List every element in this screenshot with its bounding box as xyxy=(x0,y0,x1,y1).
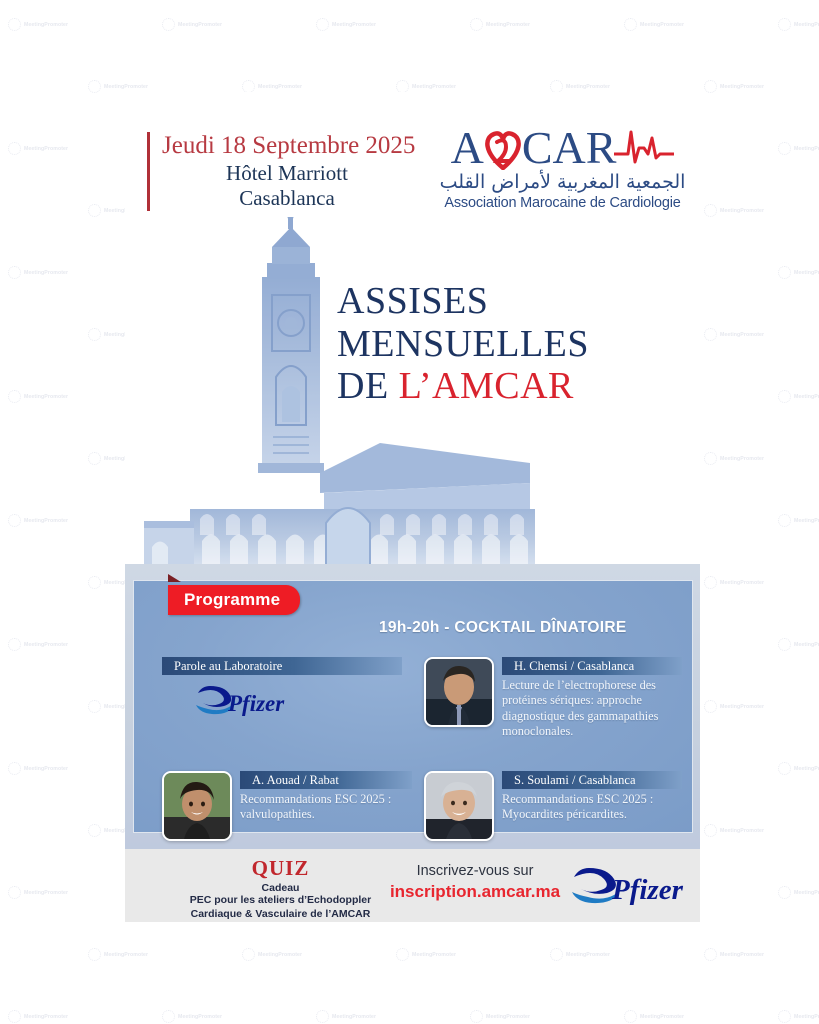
dotted-ring-icon xyxy=(162,1010,175,1023)
watermark-text: MeetingPromoter xyxy=(794,394,819,400)
dotted-ring-icon xyxy=(88,576,101,589)
pfizer-logo: Pfizer xyxy=(190,685,402,724)
dotted-ring-icon xyxy=(704,824,717,837)
dotted-ring-icon xyxy=(8,1010,21,1023)
amcar-letters-car: CAR xyxy=(522,125,617,171)
programme-ribbon: Programme xyxy=(168,585,300,615)
dotted-ring-icon xyxy=(8,266,21,279)
watermark-text: MeetingPromoter xyxy=(24,890,68,896)
lab-section-header: Parole au Laboratoire xyxy=(162,657,402,675)
watermark-mark: MeetingPromoter xyxy=(550,948,610,961)
watermark-mark: MeetingPromoter xyxy=(778,390,819,403)
watermark-text: MeetingPromoter xyxy=(720,828,764,834)
watermark-text: MeetingPromoter xyxy=(720,580,764,586)
watermark-mark: MeetingPromoter xyxy=(470,1010,530,1023)
watermark-text: MeetingPromoter xyxy=(794,766,819,772)
watermark-mark: MeetingPromoter xyxy=(704,80,764,93)
dotted-ring-icon xyxy=(88,948,101,961)
watermark-mark: MeetingPromoter xyxy=(704,452,764,465)
poster-footer: QUIZ Cadeau PEC pour les ateliers d’Echo… xyxy=(125,849,700,922)
dotted-ring-icon xyxy=(88,328,101,341)
watermark-mark: MeetingPromoter xyxy=(778,18,819,31)
watermark-text: MeetingPromoter xyxy=(24,518,68,524)
watermark-text: MeetingPromoter xyxy=(258,84,302,90)
speaker-photo-soulami xyxy=(424,771,494,841)
watermark-mark: MeetingPromoter xyxy=(704,948,764,961)
watermark-text: MeetingPromoter xyxy=(24,22,68,28)
dotted-ring-icon xyxy=(316,1010,329,1023)
speaker-photo-aouad xyxy=(162,771,232,841)
dotted-ring-icon xyxy=(396,948,409,961)
dotted-ring-icon xyxy=(704,452,717,465)
speaker-topic: Lecture de l’electrophorese des protéine… xyxy=(502,678,682,740)
watermark-mark: MeetingPromoter xyxy=(704,824,764,837)
dotted-ring-icon xyxy=(778,266,791,279)
speaker-card: H. Chemsi / Casablanca Lecture de l’elec… xyxy=(424,657,682,740)
speaker-topic: Recommandations ESC 2025 : Myocardites p… xyxy=(502,792,682,823)
event-poster: Jeudi 18 Septembre 2025 Hôtel Marriott C… xyxy=(125,92,700,922)
watermark-text: MeetingPromoter xyxy=(332,22,376,28)
watermark-text: MeetingPromoter xyxy=(486,1014,530,1020)
watermark-text: MeetingPromoter xyxy=(412,84,456,90)
amcar-french-name: Association Marocaine de Cardiologie xyxy=(435,195,690,211)
pfizer-logo: Pfizer xyxy=(565,867,693,914)
registration-url[interactable]: inscription.amcar.ma xyxy=(360,882,590,902)
watermark-text: MeetingPromoter xyxy=(794,642,819,648)
watermark-mark: MeetingPromoter xyxy=(8,886,68,899)
watermark-mark: MeetingPromoter xyxy=(778,638,819,651)
amcar-arabic-name: الجمعية المغربية لأمراض القلب xyxy=(435,171,690,194)
watermark-text: MeetingPromoter xyxy=(486,22,530,28)
speaker-name: S. Soulami / Casablanca xyxy=(514,773,636,788)
dotted-ring-icon xyxy=(316,18,329,31)
event-city: Casablanca xyxy=(162,186,412,211)
watermark-mark: MeetingPromoter xyxy=(470,18,530,31)
watermark-mark: MeetingPromoter xyxy=(8,18,68,31)
watermark-mark: MeetingPromoter xyxy=(316,1010,376,1023)
watermark-mark: MeetingPromoter xyxy=(704,700,764,713)
dotted-ring-icon xyxy=(778,18,791,31)
watermark-text: MeetingPromoter xyxy=(104,952,148,958)
watermark-mark: MeetingPromoter xyxy=(704,576,764,589)
dotted-ring-icon xyxy=(88,452,101,465)
watermark-mark: MeetingPromoter xyxy=(778,142,819,155)
watermark-mark: MeetingPromoter xyxy=(624,1010,684,1023)
speaker-topic: Recommandations ESC 2025 : valvulopathie… xyxy=(240,792,412,823)
dotted-ring-icon xyxy=(88,204,101,217)
watermark-text: MeetingPromoter xyxy=(104,84,148,90)
dotted-ring-icon xyxy=(704,204,717,217)
ribbon-notch xyxy=(168,574,181,582)
watermark-text: MeetingPromoter xyxy=(258,952,302,958)
watermark-text: MeetingPromoter xyxy=(24,270,68,276)
watermark-text: MeetingPromoter xyxy=(720,704,764,710)
speaker-name: A. Aouad / Rabat xyxy=(252,773,339,788)
title-line-3-highlight: L’AMCAR xyxy=(399,365,574,407)
speaker-info: H. Chemsi / Casablanca Lecture de l’elec… xyxy=(502,657,682,740)
watermark-text: MeetingPromoter xyxy=(178,22,222,28)
watermark-mark: MeetingPromoter xyxy=(396,948,456,961)
dotted-ring-icon xyxy=(704,328,717,341)
dotted-ring-icon xyxy=(8,18,21,31)
watermark-text: MeetingPromoter xyxy=(24,766,68,772)
speaker-info: S. Soulami / Casablanca Recommandations … xyxy=(502,771,682,841)
dotted-ring-icon xyxy=(8,142,21,155)
registration-section: Inscrivez-vous sur inscription.amcar.ma xyxy=(360,863,590,902)
event-venue: Hôtel Marriott xyxy=(162,161,412,186)
watermark-text: MeetingPromoter xyxy=(720,84,764,90)
watermark-mark: MeetingPromoter xyxy=(8,390,68,403)
watermark-mark: MeetingPromoter xyxy=(316,18,376,31)
speaker-name-bar: H. Chemsi / Casablanca xyxy=(502,657,682,675)
dotted-ring-icon xyxy=(242,948,255,961)
speaker-info: A. Aouad / Rabat Recommandations ESC 202… xyxy=(240,771,412,841)
watermark-text: MeetingPromoter xyxy=(794,270,819,276)
watermark-text: MeetingPromoter xyxy=(640,1014,684,1020)
page-title: ASSISES MENSUELLES DE L’AMCAR xyxy=(337,280,692,408)
watermark-mark: MeetingPromoter xyxy=(778,266,819,279)
watermark-text: MeetingPromoter xyxy=(794,890,819,896)
title-line-2: MENSUELLES xyxy=(337,323,692,366)
speaker-name-bar: A. Aouad / Rabat xyxy=(240,771,412,789)
registration-prompt: Inscrivez-vous sur xyxy=(360,863,590,879)
watermark-text: MeetingPromoter xyxy=(566,84,610,90)
watermark-mark: MeetingPromoter xyxy=(778,514,819,527)
watermark-mark: MeetingPromoter xyxy=(162,18,222,31)
watermark-mark: MeetingPromoter xyxy=(162,1010,222,1023)
dotted-ring-icon xyxy=(550,948,563,961)
dotted-ring-icon xyxy=(704,700,717,713)
speaker-card: A. Aouad / Rabat Recommandations ESC 202… xyxy=(162,771,412,841)
watermark-mark: MeetingPromoter xyxy=(778,762,819,775)
amcar-wordmark: A CAR xyxy=(435,124,690,172)
event-date: Jeudi 18 Septembre 2025 xyxy=(162,132,412,161)
watermark-mark: MeetingPromoter xyxy=(704,328,764,341)
watermark-text: MeetingPromoter xyxy=(24,642,68,648)
dotted-ring-icon xyxy=(778,886,791,899)
watermark-mark: MeetingPromoter xyxy=(624,18,684,31)
dotted-ring-icon xyxy=(778,514,791,527)
watermark-text: MeetingPromoter xyxy=(24,1014,68,1020)
dotted-ring-icon xyxy=(8,762,21,775)
dotted-ring-icon xyxy=(88,700,101,713)
quiz-detail-line-2: Cardiaque & Vasculaire de l’AMCAR xyxy=(163,908,398,922)
dotted-ring-icon xyxy=(778,1010,791,1023)
programme-panel: Programme 19h-20h - COCKTAIL DÎNATOIRE P… xyxy=(125,564,700,849)
dotted-ring-icon xyxy=(8,514,21,527)
watermark-mark: MeetingPromoter xyxy=(8,1010,68,1023)
watermark-mark: MeetingPromoter xyxy=(242,948,302,961)
dotted-ring-icon xyxy=(704,576,717,589)
watermark-mark: MeetingPromoter xyxy=(8,266,68,279)
heart-icon xyxy=(482,128,524,168)
dotted-ring-icon xyxy=(624,1010,637,1023)
watermark-text: MeetingPromoter xyxy=(794,518,819,524)
lab-section-header-label: Parole au Laboratoire xyxy=(174,659,282,674)
watermark-text: MeetingPromoter xyxy=(794,1014,819,1020)
watermark-text: MeetingPromoter xyxy=(720,208,764,214)
watermark-mark: MeetingPromoter xyxy=(8,638,68,651)
watermark-text: MeetingPromoter xyxy=(720,456,764,462)
watermark-text: MeetingPromoter xyxy=(794,146,819,152)
programme-ribbon-label: Programme xyxy=(184,590,280,610)
watermark-mark: MeetingPromoter xyxy=(88,948,148,961)
watermark-text: MeetingPromoter xyxy=(412,952,456,958)
amcar-logo: A CAR الجمعية المغربية لأمراض القلب Asso… xyxy=(435,124,690,211)
title-line-3-prefix: DE xyxy=(337,365,399,407)
dotted-ring-icon xyxy=(88,824,101,837)
speaker-name: H. Chemsi / Casablanca xyxy=(514,659,634,674)
amcar-letter-a: A xyxy=(451,125,484,171)
speaker-card: S. Soulami / Casablanca Recommandations … xyxy=(424,771,682,841)
title-line-1: ASSISES xyxy=(337,280,692,323)
cocktail-time-label: 19h-20h - COCKTAIL DÎNATOIRE xyxy=(379,619,627,637)
watermark-mark: MeetingPromoter xyxy=(778,886,819,899)
watermark-text: MeetingPromoter xyxy=(24,394,68,400)
dotted-ring-icon xyxy=(88,80,101,93)
watermark-text: MeetingPromoter xyxy=(640,22,684,28)
dotted-ring-icon xyxy=(704,948,717,961)
dotted-ring-icon xyxy=(470,18,483,31)
dotted-ring-icon xyxy=(162,18,175,31)
poster-hero: Jeudi 18 Septembre 2025 Hôtel Marriott C… xyxy=(125,92,700,567)
svg-text:Pfizer: Pfizer xyxy=(611,874,684,906)
watermark-mark: MeetingPromoter xyxy=(704,204,764,217)
watermark-text: MeetingPromoter xyxy=(566,952,610,958)
dotted-ring-icon xyxy=(778,762,791,775)
watermark-mark: MeetingPromoter xyxy=(8,514,68,527)
dotted-ring-icon xyxy=(470,1010,483,1023)
dotted-ring-icon xyxy=(8,886,21,899)
watermark-mark: MeetingPromoter xyxy=(778,1010,819,1023)
watermark-text: MeetingPromoter xyxy=(720,952,764,958)
watermark-text: MeetingPromoter xyxy=(332,1014,376,1020)
programme-inner-panel: Programme 19h-20h - COCKTAIL DÎNATOIRE P… xyxy=(133,580,693,833)
dotted-ring-icon xyxy=(704,80,717,93)
watermark-mark: MeetingPromoter xyxy=(8,142,68,155)
dotted-ring-icon xyxy=(624,18,637,31)
lab-section: Parole au Laboratoire Pfizer xyxy=(162,657,402,724)
dotted-ring-icon xyxy=(8,390,21,403)
watermark-text: MeetingPromoter xyxy=(720,332,764,338)
speaker-name-bar: S. Soulami / Casablanca xyxy=(502,771,682,789)
title-line-3: DE L’AMCAR xyxy=(337,365,692,408)
speaker-photo-chemsi xyxy=(424,657,494,727)
event-date-block: Jeudi 18 Septembre 2025 Hôtel Marriott C… xyxy=(147,132,412,211)
dotted-ring-icon xyxy=(778,142,791,155)
svg-text:Pfizer: Pfizer xyxy=(227,691,285,716)
watermark-mark: MeetingPromoter xyxy=(8,762,68,775)
dotted-ring-icon xyxy=(778,390,791,403)
watermark-text: MeetingPromoter xyxy=(178,1014,222,1020)
ecg-line-icon xyxy=(614,128,674,168)
dotted-ring-icon xyxy=(778,638,791,651)
watermark-text: MeetingPromoter xyxy=(24,146,68,152)
watermark-text: MeetingPromoter xyxy=(794,22,819,28)
dotted-ring-icon xyxy=(8,638,21,651)
